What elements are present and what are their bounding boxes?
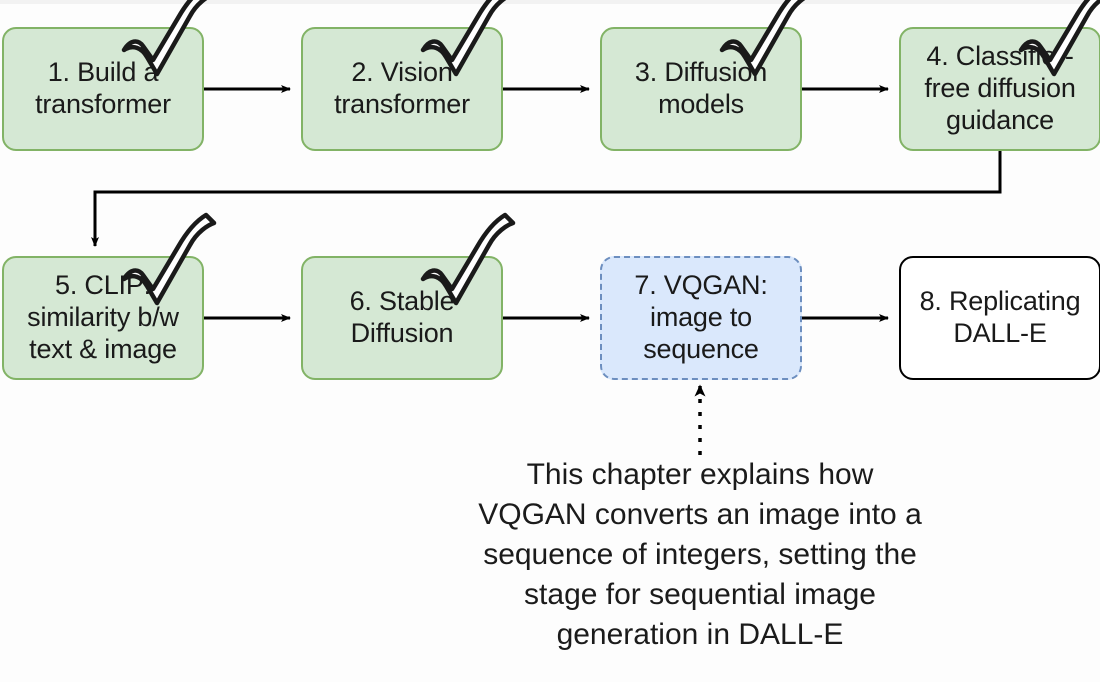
node-2-label: 2. Vision transformer [334, 57, 470, 121]
node-3-diffusion-models[interactable]: 3. Diffusion models [600, 27, 802, 151]
node-1-build-a-transformer[interactable]: 1. Build a transformer [2, 27, 204, 151]
node-6-stable-diffusion[interactable]: 6. Stable Diffusion [301, 256, 503, 380]
node-4-label: 4. Classifier- free diffusion guidance [924, 41, 1075, 137]
top-edge-strip [0, 0, 1100, 4]
node-5-label: 5. CLIP: similarity b/w text & image [27, 270, 179, 366]
caption-text: This chapter explains how VQGAN converts… [380, 455, 1020, 655]
node-7-vqgan-image-to-sequence[interactable]: 7. VQGAN: image to sequence [600, 256, 802, 380]
diagram-canvas: 1. Build a transformer 2. Vision transfo… [0, 0, 1100, 682]
node-5-clip-similarity[interactable]: 5. CLIP: similarity b/w text & image [2, 256, 204, 380]
node-8-label: 8. Replicating DALL-E [920, 286, 1081, 350]
node-3-label: 3. Diffusion models [635, 57, 767, 121]
node-7-label: 7. VQGAN: image to sequence [634, 270, 767, 366]
node-8-replicating-dall-e[interactable]: 8. Replicating DALL-E [899, 256, 1100, 380]
node-6-label: 6. Stable Diffusion [350, 286, 455, 350]
node-2-vision-transformer[interactable]: 2. Vision transformer [301, 27, 503, 151]
node-4-classifier-free-diffusion-guidance[interactable]: 4. Classifier- free diffusion guidance [899, 27, 1100, 151]
node-1-label: 1. Build a transformer [35, 57, 171, 121]
edge-4-to-5 [95, 151, 1000, 246]
